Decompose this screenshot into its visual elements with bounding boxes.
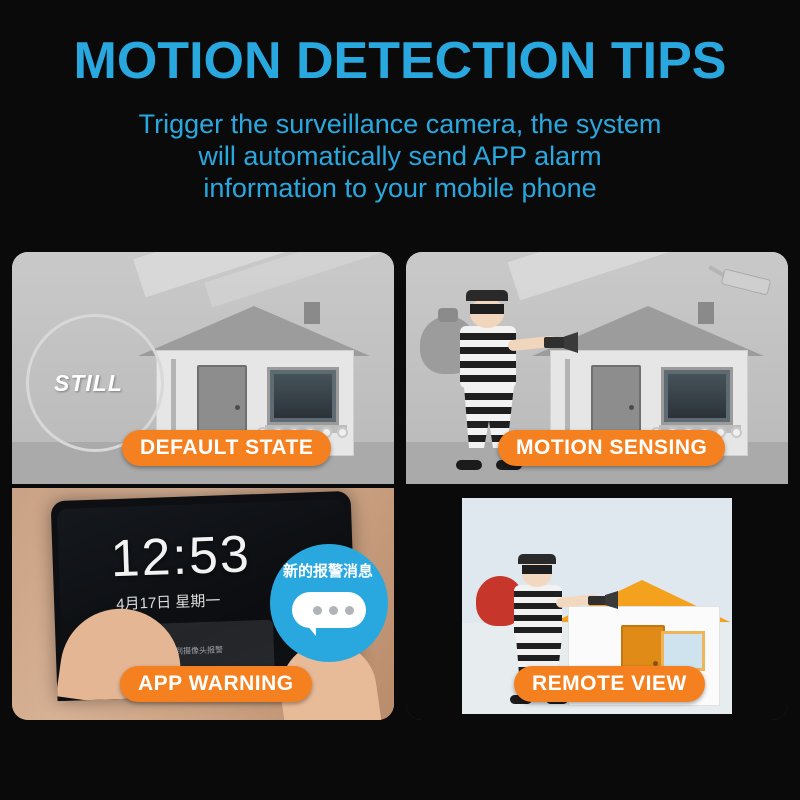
panel-app-warning: 12:53 4月17日 星期一 小米路由器 设备已接入 · 检测到摄像头报警 点… [12, 488, 394, 720]
window [661, 631, 705, 671]
burglar-mask [522, 565, 552, 574]
camera-body [721, 268, 771, 295]
burglar-hat [466, 290, 508, 301]
page-subtitle: Trigger the surveillance camera, the sys… [0, 108, 800, 204]
subtitle-line-2: will automatically send APP alarm [0, 140, 800, 172]
caption-motion-sensing: MOTION SENSING [498, 430, 725, 466]
typing-dots-icon [313, 606, 354, 615]
alarm-bubble-text: 新的报警消息 [270, 560, 386, 581]
panel-remote-view: REMOTE VIEW [406, 488, 788, 720]
window-glass [274, 374, 332, 418]
burglar-shoe [456, 460, 482, 470]
page-title: MOTION DETECTION TIPS [0, 34, 800, 88]
burglar-mask [470, 304, 504, 314]
panel-default-state: STILL DEFAULT STATE [12, 252, 394, 484]
caption-app-warning: APP WARNING [120, 666, 312, 702]
letterbox-left [406, 488, 462, 720]
subtitle-line-3: information to your mobile phone [0, 172, 800, 204]
caption-remote-view: REMOTE VIEW [514, 666, 705, 702]
lockscreen-clock: 12:53 [110, 524, 252, 589]
door-knob [235, 405, 240, 410]
roof [138, 306, 370, 356]
poster: MOTION DETECTION TIPS Trigger the survei… [0, 0, 800, 800]
burglar-torso [514, 585, 562, 639]
panel-motion-sensing: MOTION SENSING [406, 252, 788, 484]
burglar-torso [460, 326, 516, 388]
letterbox-right [732, 488, 788, 720]
window [661, 367, 733, 425]
subtitle-line-1: Trigger the surveillance camera, the sys… [0, 108, 800, 140]
chimney [304, 302, 320, 324]
surveillance-camera-icon [706, 270, 770, 296]
door-knob [629, 405, 634, 410]
burglar-hat [518, 554, 556, 564]
window-glass [668, 374, 726, 418]
caption-default-state: DEFAULT STATE [122, 430, 331, 466]
flashlight-icon [588, 590, 618, 610]
panel-grid: STILL DEFAULT STATE [12, 252, 788, 692]
chimney [698, 302, 714, 324]
window [267, 367, 339, 425]
flashlight-icon [544, 330, 578, 354]
still-label: STILL [54, 370, 123, 397]
